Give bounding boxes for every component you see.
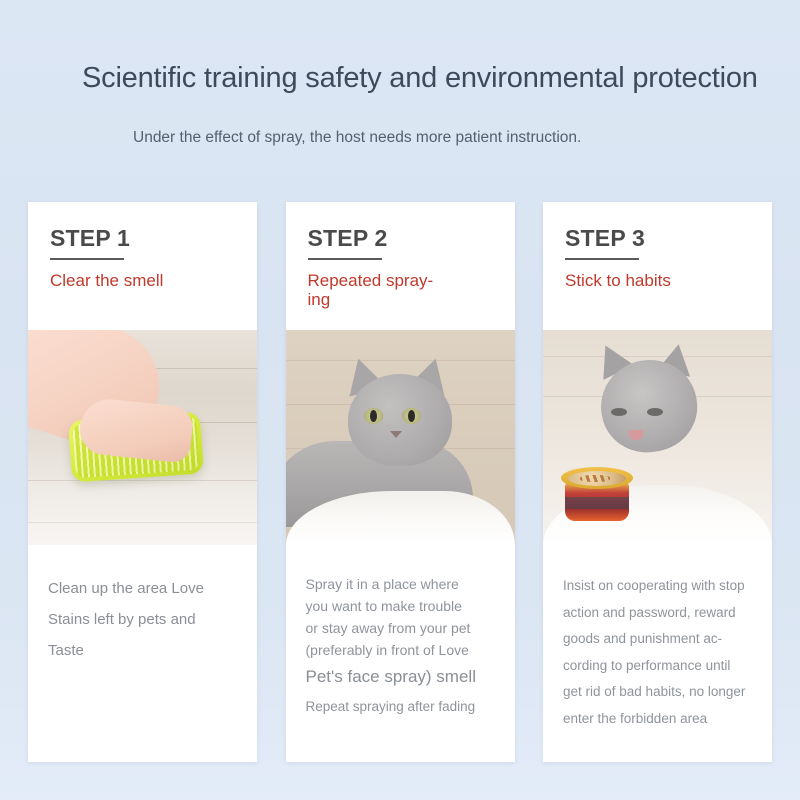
cat-nose-shape	[390, 431, 402, 438]
body-line: Pet's face spray) smell	[306, 661, 495, 693]
body-line: or stay away from your pet	[306, 617, 495, 639]
cat-food-can-shape	[561, 467, 633, 523]
page-title: Scientific training safety and environme…	[82, 62, 800, 95]
step-card-1-label: STEP 1	[50, 226, 235, 250]
step-card-2-rule	[308, 258, 382, 260]
step-card-2-label: STEP 2	[308, 226, 493, 250]
kitten-eating-from-food-can-photo	[543, 330, 772, 545]
body-line: get rid of bad habits, no longer	[563, 679, 752, 706]
step-card-2: STEP 2 Repeated spray- ing	[286, 202, 515, 762]
step-card-3-body: Insist on cooperating with stop action a…	[543, 545, 772, 762]
page-header: Scientific training safety and environme…	[0, 0, 800, 190]
body-line: Insist on cooperating with stop	[563, 573, 752, 600]
cat-head-shape	[348, 374, 452, 466]
step-card-2-subtitle-line2: ing	[308, 290, 493, 309]
step-card-3-subtitle-line1: Stick to habits	[565, 271, 671, 290]
step-card-3: STEP 3 Stick to habits	[543, 202, 772, 762]
kitten-eye-left-shape	[611, 408, 627, 416]
step-card-1-header: STEP 1 Clear the smell	[28, 202, 257, 330]
body-line: Taste	[48, 635, 237, 666]
body-line: goods and punishment ac-	[563, 626, 752, 653]
body-line: cording to performance until	[563, 653, 752, 680]
page-subtitle: Under the effect of spray, the host need…	[133, 129, 581, 147]
body-line: Repeat spraying after fading	[306, 693, 495, 721]
step-card-2-body: Spray it in a place where you want to ma…	[286, 545, 515, 762]
steps-card-list: STEP 1 Clear the smell Clean up the area…	[28, 202, 772, 764]
step-card-2-subtitle-line1: Repeated spray-	[308, 271, 493, 290]
step-card-1-rule	[50, 258, 124, 260]
body-line: (preferably in front of Love	[306, 639, 495, 661]
kitten-tongue-shape	[629, 430, 643, 440]
body-line: Spray it in a place where	[306, 573, 495, 595]
step-card-3-label: STEP 3	[565, 226, 750, 250]
product-infographic-page: Scientific training safety and environme…	[0, 0, 800, 800]
step-card-2-subtitle: Repeated spray- ing	[308, 271, 493, 309]
cat-eye-left-shape	[364, 408, 383, 424]
body-line: action and password, reward	[563, 600, 752, 627]
hand-cleaning-floor-with-yellow-cloth-photo	[28, 330, 257, 545]
step-card-1-body: Clean up the area Love Stains left by pe…	[28, 545, 257, 762]
step-card-1: STEP 1 Clear the smell Clean up the area…	[28, 202, 257, 762]
grey-cat-lying-on-blanket-photo	[286, 330, 515, 545]
body-line: Clean up the area Love	[48, 573, 237, 604]
step-card-3-header: STEP 3 Stick to habits	[543, 202, 772, 330]
step-card-2-header: STEP 2 Repeated spray- ing	[286, 202, 515, 330]
step-card-1-subtitle: Clear the smell	[50, 271, 235, 290]
body-line: you want to make trouble	[306, 595, 495, 617]
body-line: Stains left by pets and	[48, 604, 237, 635]
step-card-3-subtitle: Stick to habits	[565, 271, 750, 290]
step-card-3-rule	[565, 258, 639, 260]
step-card-1-subtitle-line1: Clear the smell	[50, 271, 163, 290]
kitten-eye-right-shape	[647, 408, 663, 416]
cat-eye-right-shape	[402, 408, 421, 424]
body-line: enter the forbidden area	[563, 706, 752, 733]
